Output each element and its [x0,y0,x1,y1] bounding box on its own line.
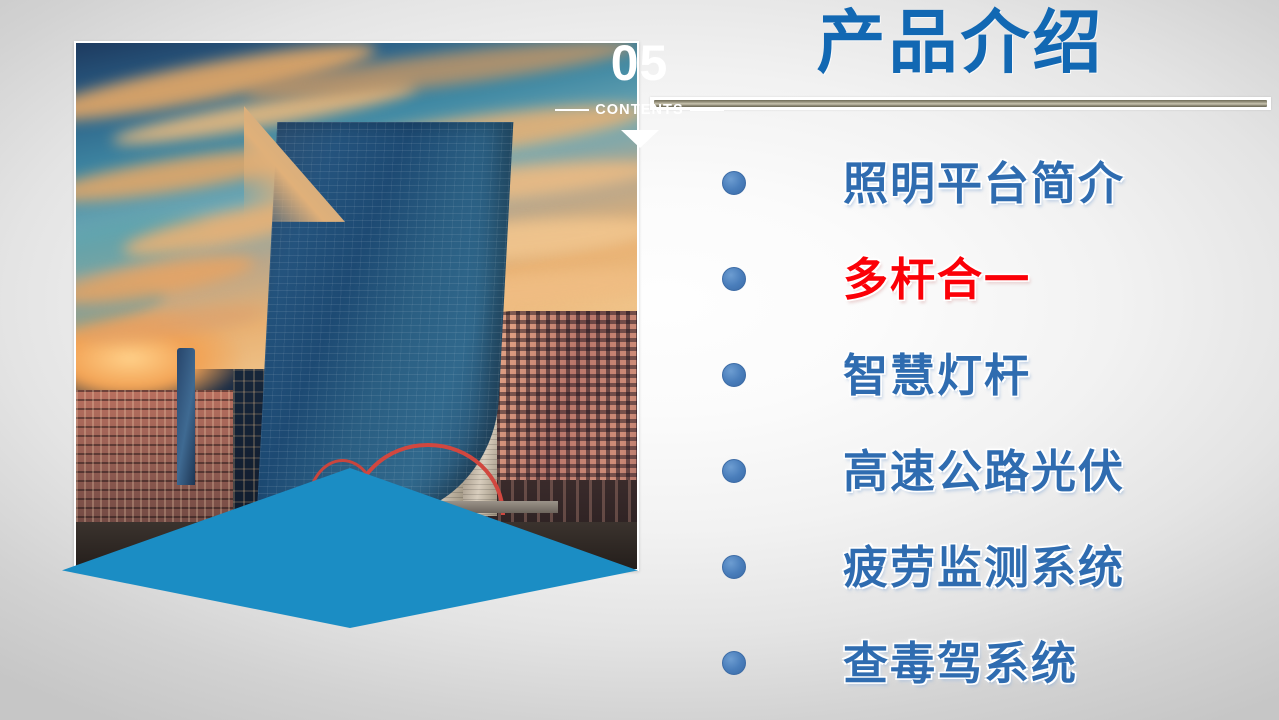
list-item[interactable]: 多杆合一 [700,231,1260,327]
contents-bullet-list: 照明平台简介 多杆合一 智慧灯杆 高速公路光伏 疲劳监测系统 查毒驾系统 [700,135,1260,711]
list-item-label: 照明平台简介 [843,161,1125,206]
bullet-dot-icon [722,171,746,195]
list-item[interactable]: 智慧灯杆 [700,327,1260,423]
bullet-dot-icon [722,651,746,675]
list-item-label: 智慧灯杆 [843,353,1031,398]
contents-label-row: CONTENTS [0,102,1279,118]
bullet-dot-icon [722,555,746,579]
rule-right [690,109,724,111]
slim-tower [177,348,195,485]
bullet-dot-icon [722,459,746,483]
contents-label: CONTENTS [595,102,684,118]
list-item[interactable]: 疲劳监测系统 [700,519,1260,615]
list-item-label: 高速公路光伏 [843,449,1125,494]
list-item-label: 疲劳监测系统 [843,545,1125,590]
list-item-label: 查毒驾系统 [843,641,1078,686]
slide-canvas: 05 CONTENTS 产品介绍 照明平台简介 多杆合一 智慧灯杆 高速公路光伏 [0,0,1279,720]
section-number: 05 [0,38,1279,88]
rule-left [555,109,589,111]
bullet-dot-icon [722,267,746,291]
triangle-down-icon [621,130,659,148]
bullet-dot-icon [722,363,746,387]
list-item[interactable]: 查毒驾系统 [700,615,1260,711]
list-item[interactable]: 照明平台简介 [700,135,1260,231]
list-item[interactable]: 高速公路光伏 [700,423,1260,519]
list-item-label: 多杆合一 [843,257,1031,302]
